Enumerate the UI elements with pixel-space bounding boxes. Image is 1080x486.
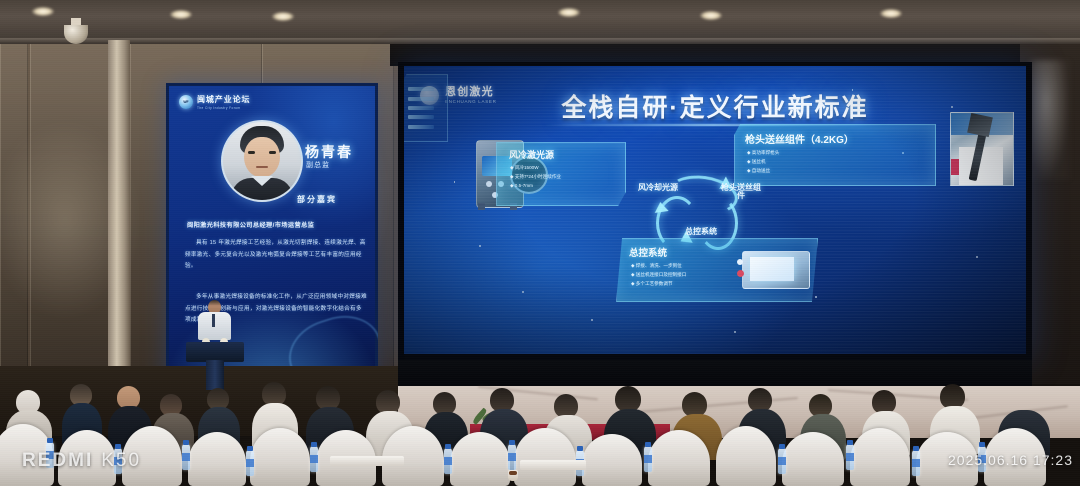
- camera-watermark: REDMIK50: [22, 450, 141, 472]
- ceiling-downlight: [32, 7, 54, 16]
- welding-gun-photo: [950, 112, 1014, 186]
- timestamp-watermark: 2025.06.16 17:23: [948, 452, 1073, 468]
- forum-logo-icon: WF: [179, 95, 193, 109]
- control-system-device-image: [734, 249, 810, 293]
- panel-gun-wire-feeder-bullet: ◆ 自动送丝: [747, 168, 935, 174]
- presentation-screen: 恩创激光 ENCHUANG LASER 全栈自研·定义行业新标准 风冷激光源 ◆…: [404, 66, 1026, 354]
- water-bottle: [508, 444, 516, 470]
- water-bottle: [644, 446, 652, 472]
- panel-laser-source-heading: 风冷激光源: [509, 148, 625, 161]
- audience-area: [0, 372, 1080, 486]
- speaker-role: 副总监: [306, 160, 330, 170]
- audience-chair: [648, 430, 710, 486]
- cycle-node-control-system: 总控系统: [678, 228, 724, 236]
- speaker-bio-paragraph-1: 具有 15 年激光焊接工艺经验，从激光切割焊接、连续激光焊、高频率激光、多元复合…: [185, 238, 367, 273]
- panel-laser-source-bullet: ◆ 风冷1500W: [510, 165, 625, 171]
- audience-chair: [250, 428, 310, 486]
- workflow-cycle-diagram: 风冷却光源 枪头送丝组件 总控系统: [634, 174, 766, 246]
- paper-cup: [508, 470, 518, 481]
- wall-light-pool: [0, 120, 140, 320]
- audience-chair: [716, 426, 776, 486]
- audience-chair: [450, 432, 510, 486]
- forum-logo: WF 闽城产业论坛 The City Industry Forum: [179, 94, 250, 110]
- panel-laser-source: 风冷激光源 ◆ 风冷1500W ◆ 支持7*24小时连续作业 ◆ 0.5-7mm: [496, 142, 626, 206]
- ceiling-dome-camera-icon: [64, 18, 88, 44]
- ceiling-downlight: [880, 9, 902, 18]
- podium-top: [186, 342, 244, 362]
- audience-chair: [850, 428, 910, 486]
- conference-photo: 恩创激光 ENCHUANG LASER 全栈自研·定义行业新标准 风冷激光源 ◆…: [0, 0, 1080, 486]
- speaker-avatar: [221, 120, 303, 202]
- laser-rack-slots: [408, 82, 434, 134]
- panel-laser-source-bullet: ◆ 支持7*24小时连续作业: [510, 174, 625, 180]
- cycle-arrow-icon: [653, 201, 668, 213]
- forum-name-cn: 闽城产业论坛: [197, 94, 250, 105]
- slide-title: 全栈自研·定义行业新标准: [404, 88, 1026, 124]
- forum-name-en: The City Industry Forum: [197, 106, 250, 110]
- cycle-node-gun-feeder: 枪头送丝组件: [718, 184, 764, 201]
- water-bottle: [246, 450, 254, 476]
- speaker-name: 杨青春: [305, 142, 353, 162]
- panel-gun-wire-feeder-bullet: ◆ 送丝机: [747, 159, 935, 165]
- audience-chair: [188, 432, 246, 486]
- panel-laser-source-bullet: ◆ 0.5-7mm: [510, 183, 625, 189]
- speaker-organization: 闽阳激光科技有限公司总经理/市场运营总监: [187, 220, 367, 229]
- presenter-lanyard: [212, 314, 215, 327]
- water-bottle: [778, 448, 786, 474]
- watermark-model: K50: [101, 450, 141, 471]
- audience-chair: [782, 432, 844, 486]
- wall-artwork: [1030, 60, 1070, 180]
- audience-table-edge: [330, 456, 404, 466]
- cycle-node-laser-source: 风冷却光源: [636, 184, 680, 192]
- water-bottle: [912, 450, 920, 476]
- panel-gun-wire-feeder-heading: 枪头送丝组件（4.2KG）: [745, 131, 935, 146]
- audience-chair: [582, 434, 642, 486]
- ceiling-downlight: [272, 12, 294, 21]
- ceiling-downlight: [700, 11, 722, 20]
- water-bottle: [182, 444, 190, 470]
- audience-chair: [514, 428, 576, 486]
- water-bottle: [310, 446, 318, 472]
- water-bottle: [846, 444, 854, 470]
- watermark-brand: REDMI: [22, 450, 93, 471]
- water-bottle: [444, 448, 452, 474]
- panel-gun-wire-feeder-bullet: ◆ 高功率焊枪头: [747, 150, 935, 156]
- ceiling-downlight: [558, 8, 580, 17]
- audience-table-edge: [520, 460, 586, 470]
- banner-section-tag: 部分嘉宾: [297, 194, 337, 205]
- ceiling-downlight: [170, 10, 192, 19]
